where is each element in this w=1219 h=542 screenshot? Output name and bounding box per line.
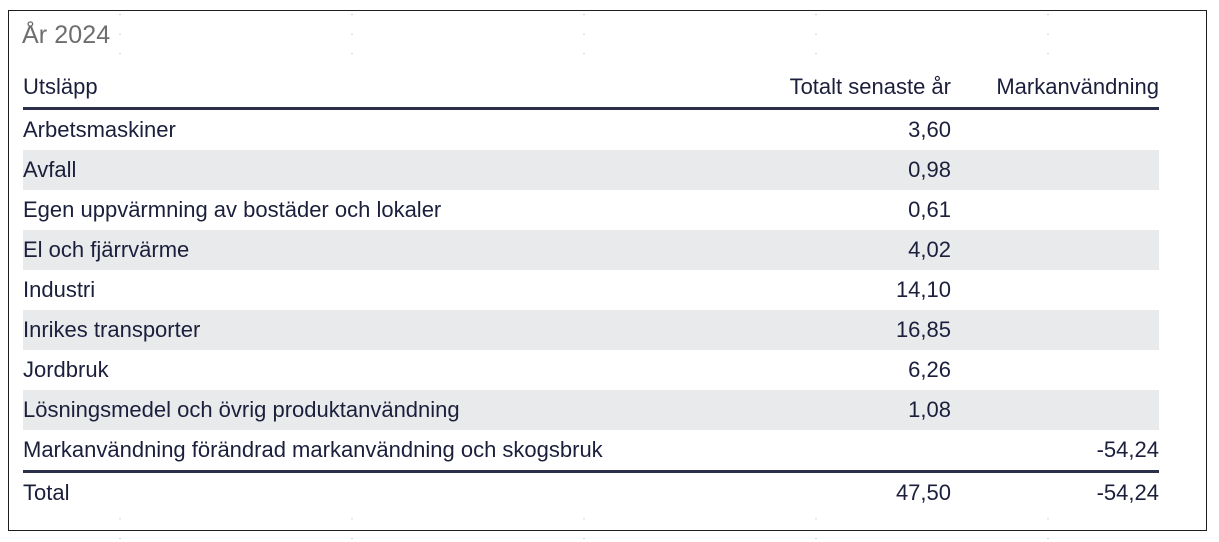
table-row[interactable]: Jordbruk 6,26 [23, 350, 1159, 390]
cell-total: 14,10 [739, 270, 951, 310]
cell-label: Inrikes transporter [23, 310, 739, 350]
cell-land [951, 190, 1159, 230]
table-total-row[interactable]: Total 47,50 -54,24 [23, 472, 1159, 514]
cell-total: 6,26 [739, 350, 951, 390]
cell-land [951, 270, 1159, 310]
table-row[interactable]: Arbetsmaskiner 3,60 [23, 109, 1159, 151]
table-row[interactable]: Industri 14,10 [23, 270, 1159, 310]
table-row[interactable]: Lösningsmedel och övrig produktanvändnin… [23, 390, 1159, 430]
cell-label: Markanvändning förändrad markanvändning … [23, 430, 739, 472]
table-header-row: Utsläpp Totalt senaste år Markanvändning [23, 67, 1159, 109]
table-row[interactable]: Markanvändning förändrad markanvändning … [23, 430, 1159, 472]
cell-total: 16,85 [739, 310, 951, 350]
table-row[interactable]: Inrikes transporter 16,85 [23, 310, 1159, 350]
cell-total-sum: 47,50 [739, 472, 951, 514]
cell-total: 1,08 [739, 390, 951, 430]
table-header: Utsläpp Totalt senaste år Markanvändning [23, 67, 1159, 109]
cell-total: 0,98 [739, 150, 951, 190]
cell-total-label: Total [23, 472, 739, 514]
cell-label: El och fjärrvärme [23, 230, 739, 270]
table-body: Arbetsmaskiner 3,60 Avfall 0,98 Egen upp… [23, 109, 1159, 514]
cell-land: -54,24 [951, 430, 1159, 472]
cell-total: 3,60 [739, 109, 951, 151]
emissions-table: Utsläpp Totalt senaste år Markanvändning… [23, 67, 1159, 513]
cell-total: 0,61 [739, 190, 951, 230]
cell-land-sum: -54,24 [951, 472, 1159, 514]
page-title: År 2024 [22, 21, 110, 50]
cell-label: Arbetsmaskiner [23, 109, 739, 151]
cell-land [951, 390, 1159, 430]
table-frame: År 2024 Utsläpp Totalt senaste år Markan… [8, 10, 1207, 531]
cell-land [951, 230, 1159, 270]
column-header-utslapp[interactable]: Utsläpp [23, 67, 739, 109]
cell-total [739, 430, 951, 472]
table-row[interactable]: Egen uppvärmning av bostäder och lokaler… [23, 190, 1159, 230]
cell-label: Egen uppvärmning av bostäder och lokaler [23, 190, 739, 230]
table-row[interactable]: El och fjärrvärme 4,02 [23, 230, 1159, 270]
table-row[interactable]: Avfall 0,98 [23, 150, 1159, 190]
cell-land [951, 350, 1159, 390]
cell-label: Industri [23, 270, 739, 310]
cell-label: Avfall [23, 150, 739, 190]
column-header-totalt-senaste-ar[interactable]: Totalt senaste år [739, 67, 951, 109]
cell-total: 4,02 [739, 230, 951, 270]
cell-land [951, 150, 1159, 190]
cell-label: Jordbruk [23, 350, 739, 390]
cell-land [951, 109, 1159, 151]
column-header-markanvandning[interactable]: Markanvändning [951, 67, 1159, 109]
cell-land [951, 310, 1159, 350]
cell-label: Lösningsmedel och övrig produktanvändnin… [23, 390, 739, 430]
